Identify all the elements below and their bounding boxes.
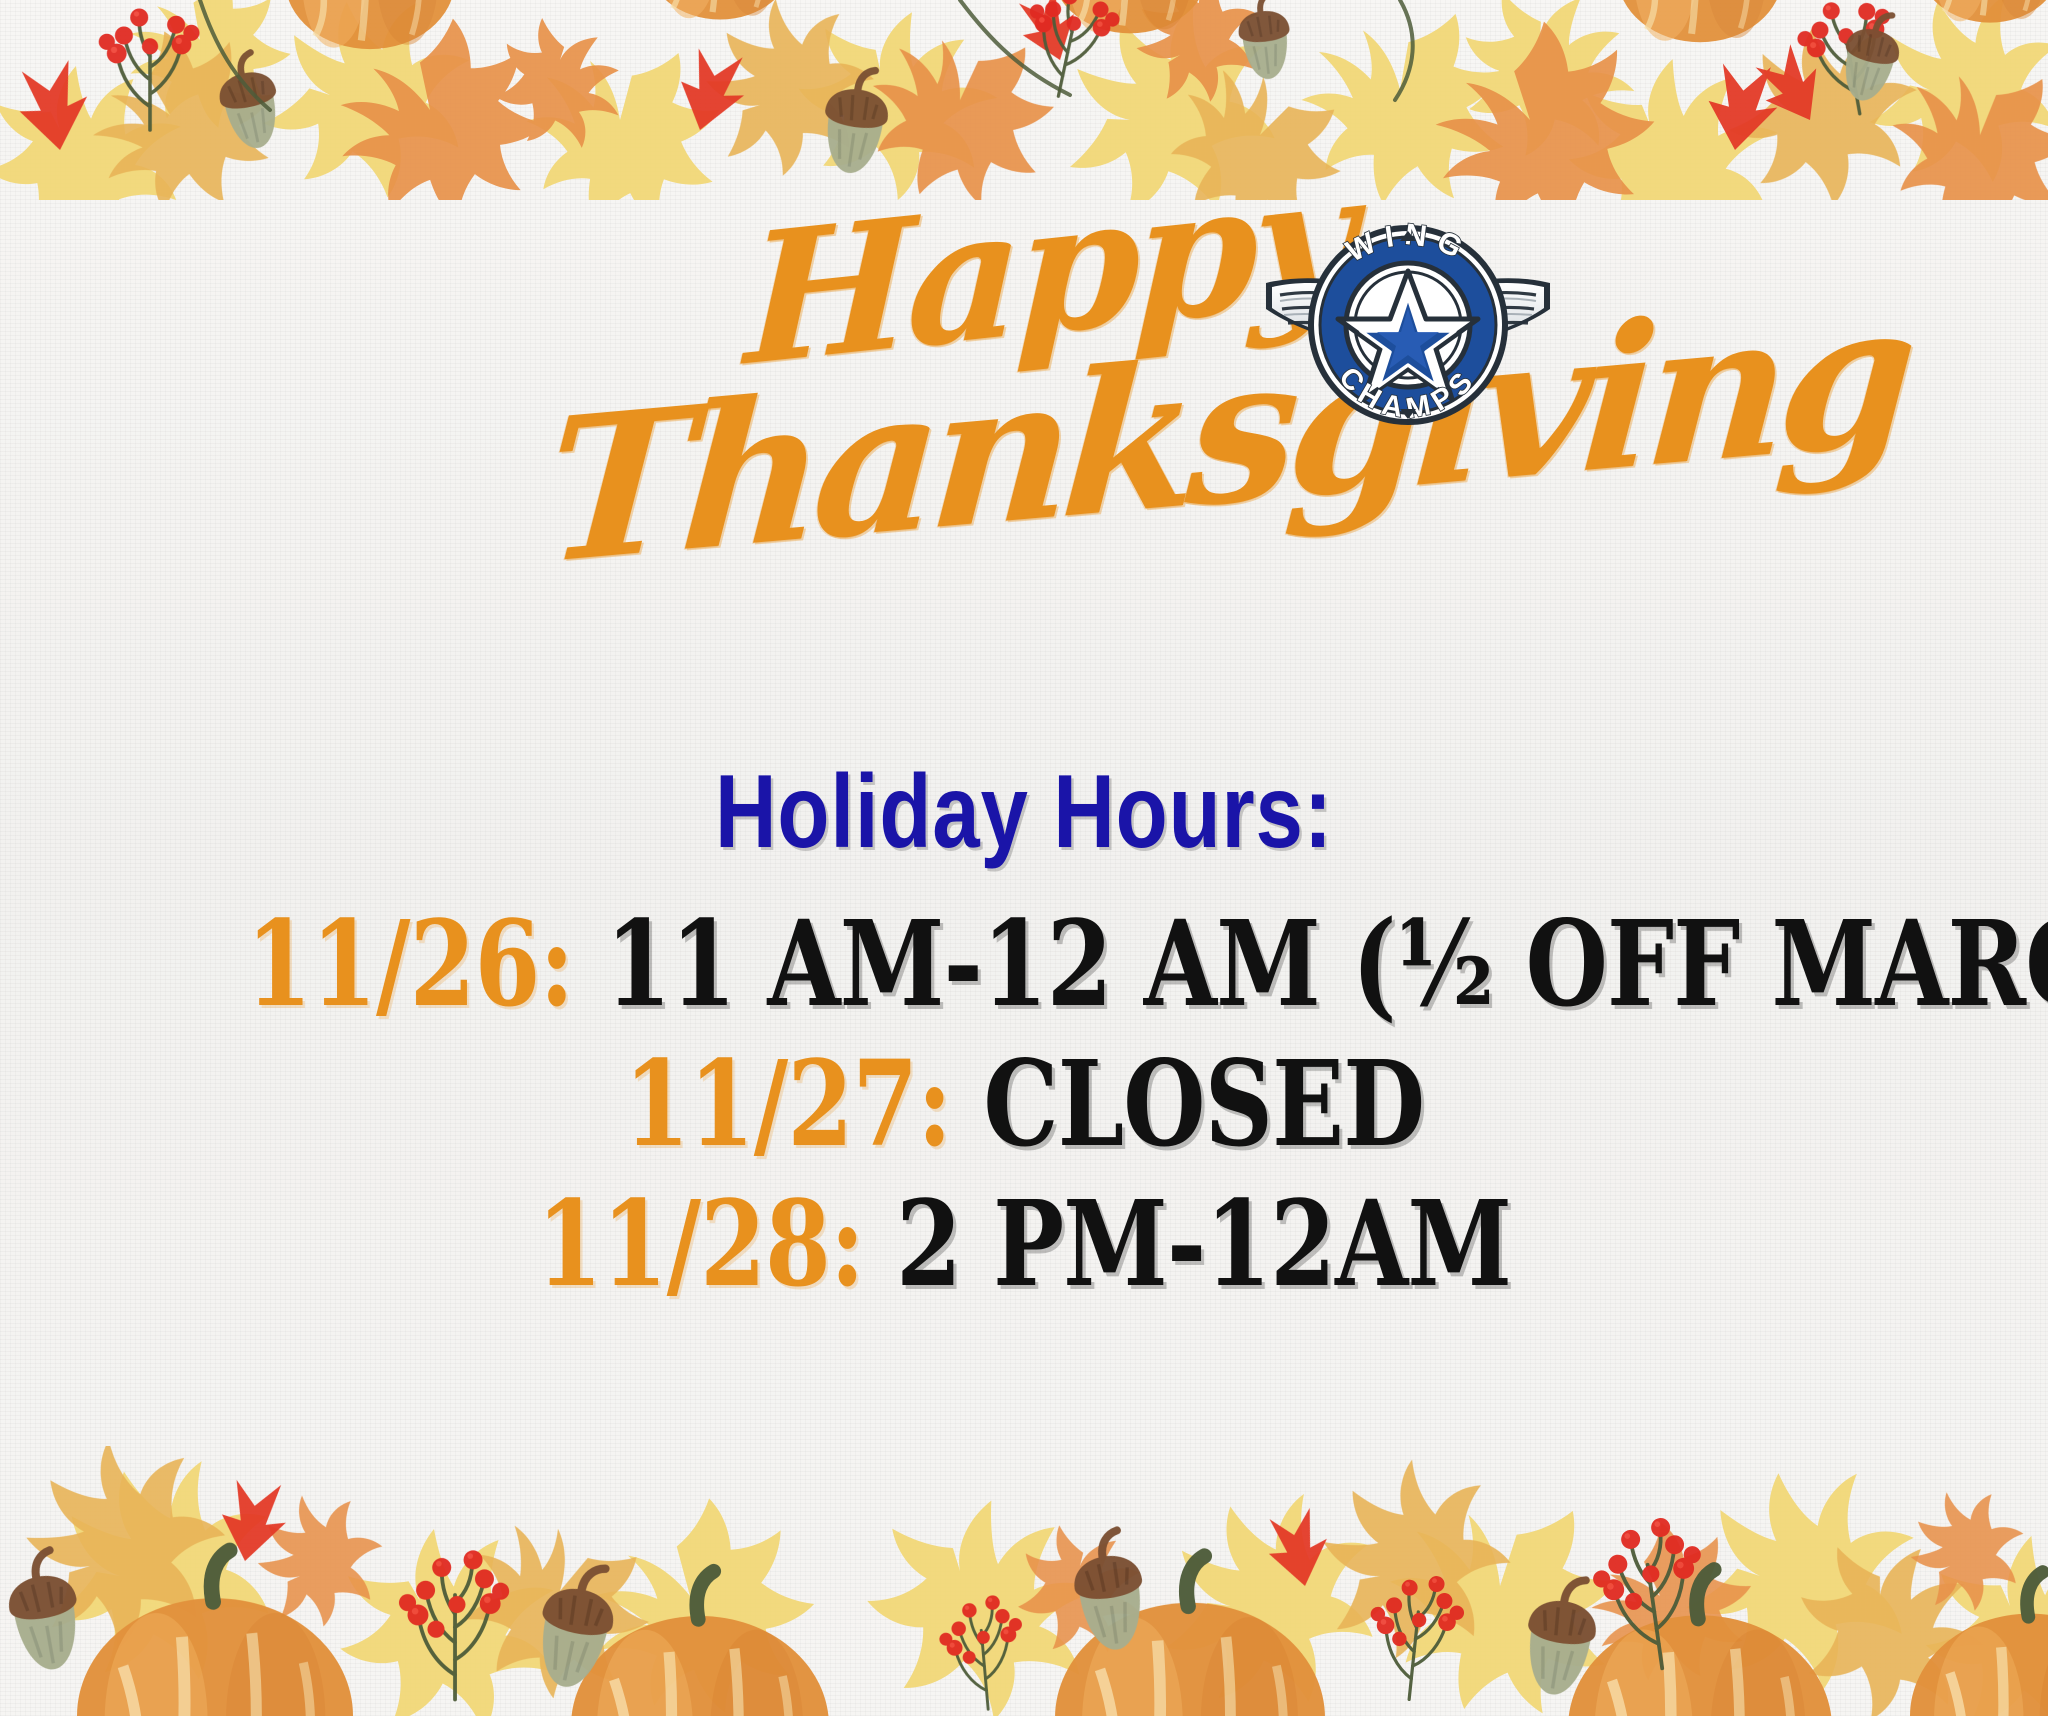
hours-date: 11/28: — [537, 1174, 864, 1313]
hours-date: 11/26: — [246, 894, 573, 1033]
hours-row: 11/28: 2 PM-12AM — [0, 1185, 2048, 1303]
holiday-hours-list: 11/26: 11 AM-12 AM (½ OFF MARGS) 11/27: … — [0, 905, 2048, 1325]
hours-time: 2 PM-12AM — [896, 1174, 1511, 1313]
hours-row: 11/26: 11 AM-12 AM (½ OFF MARGS) — [0, 905, 2048, 1023]
hours-time: CLOSED — [983, 1034, 1424, 1173]
hours-row: 11/27: CLOSED — [0, 1045, 2048, 1163]
autumn-border-bottom — [0, 1446, 2048, 1716]
thanksgiving-hours-poster: Happy Thanksgiving — [0, 0, 2048, 1716]
page-title: Holiday Hours: — [184, 760, 1863, 864]
greeting-block: Happy Thanksgiving — [0, 140, 2048, 570]
wing-champs-logo: WING CHAMPS — [1258, 205, 1558, 445]
hours-date: 11/27: — [624, 1034, 951, 1173]
hours-time: 11 AM-12 AM (½ OFF MARGS) — [606, 894, 2048, 1033]
